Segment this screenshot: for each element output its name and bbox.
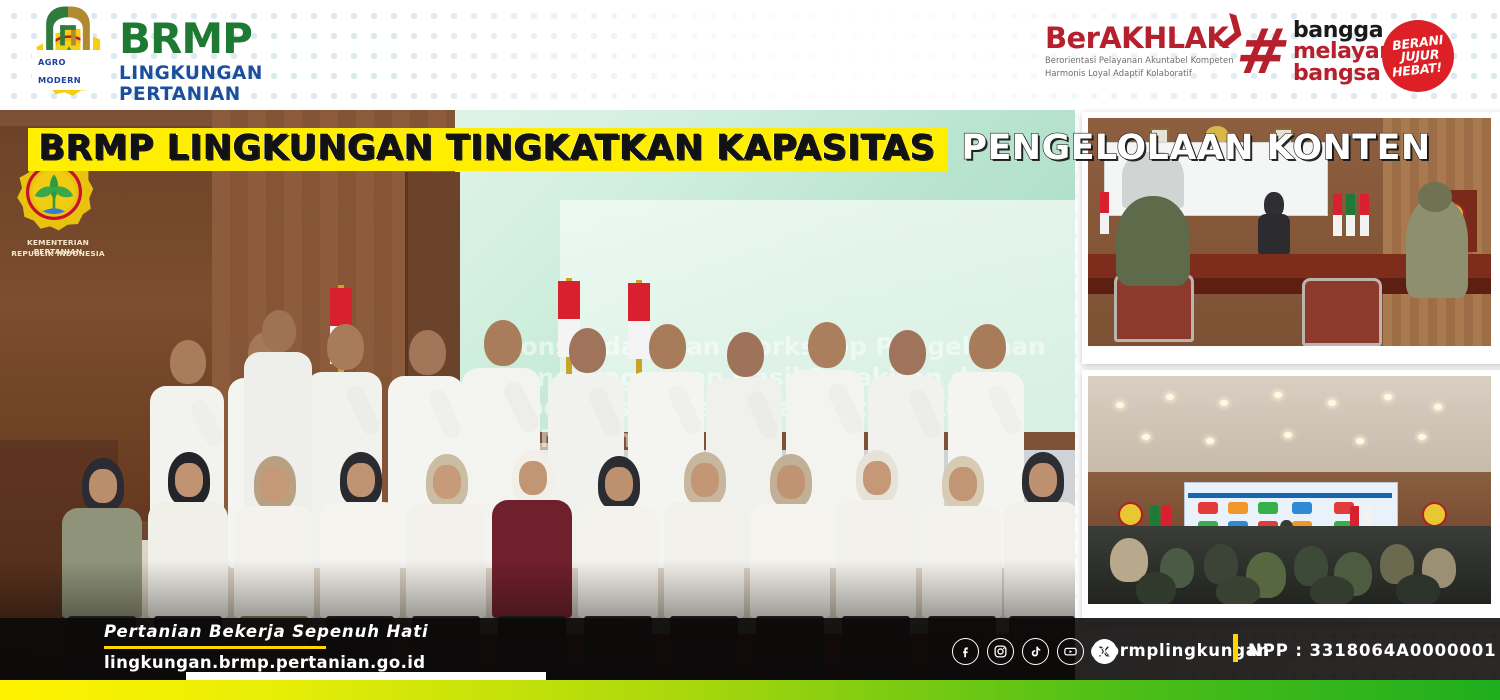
berakhlak-logo: BerAKHLAK ❯ Berorientasi Pelayanan Akunt… — [1045, 24, 1225, 79]
banner-header: BRMP LINGKUNGAN PERTANIAN BerAKHLAK ❯ Be… — [0, 0, 1500, 110]
facebook-icon[interactable] — [952, 638, 979, 665]
headline-block: BRMP LINGKUNGAN TINGKATKAN KAPASITAS PEN… — [28, 122, 1441, 171]
banner-stage: BRMP LINGKUNGAN PERTANIAN BerAKHLAK ❯ Be… — [0, 0, 1500, 700]
inset-photo-frame — [1088, 376, 1491, 604]
bangga-melayani-bangsa-logo: # bangga melayani bangsa — [1237, 20, 1402, 84]
youtube-icon[interactable] — [1057, 638, 1084, 665]
audience-head — [1396, 574, 1440, 604]
headline-line-2: PENGELOLAAN KONTEN — [961, 128, 1430, 168]
audience-head — [1216, 576, 1260, 604]
footer-tagline: Pertanian Bekerja Sepenuh Hati — [104, 622, 429, 641]
podium-caption-line-2: REPUBLIK INDONESIA — [6, 249, 110, 258]
hashtag-icon: # — [1233, 26, 1293, 79]
podium-seal-icon — [1422, 502, 1447, 527]
tiktok-icon[interactable] — [1022, 638, 1049, 665]
flag — [1333, 194, 1342, 236]
footer-url[interactable]: lingkungan.brmp.pertanian.go.id — [104, 653, 429, 672]
headline-line-2-wrap: PENGELOLAAN KONTEN — [951, 131, 1440, 166]
headline-line-1-highlight: BRMP LINGKUNGAN TINGKATKAN KAPASITAS — [28, 128, 947, 171]
social-handle: @brmplingkungan — [1090, 641, 1270, 660]
footer-divider — [1233, 634, 1238, 662]
berakhlak-title: BerAKHLAK ❯ — [1045, 24, 1225, 53]
flag — [1100, 192, 1109, 234]
inset-photo-auditorium — [1082, 370, 1500, 622]
brand-name: BRMP — [119, 18, 263, 60]
berakhlak-values-line-1: Berorientasi Pelayanan Akuntabel Kompete… — [1045, 55, 1225, 66]
instagram-icon[interactable] — [987, 638, 1014, 665]
headline-line-1: BRMP LINGKUNGAN TINGKATKAN KAPASITAS — [38, 128, 935, 168]
berakhlak-title-text: BerAKHLAK — [1045, 21, 1228, 55]
agro-modern-badge: AGRO MODERN — [32, 50, 108, 90]
npp-number: NPP : 3318064A0000001 — [1248, 641, 1496, 660]
agro-modern-logo: AGRO MODERN — [28, 0, 108, 72]
audience-head — [1136, 572, 1176, 604]
presenter-body — [1258, 214, 1290, 258]
berani-line-3: HEBAT! — [1391, 60, 1442, 78]
berakhlak-values-line-2: Harmonis Loyal Adaptif Kolaboratif — [1045, 68, 1225, 79]
podium-seal-icon — [1118, 502, 1143, 527]
slide-header-bar — [1188, 493, 1392, 498]
flag — [1360, 194, 1369, 236]
brand-subline-2: PERTANIAN — [119, 86, 263, 105]
hero-scene: ••• Konsolidasi dan Workshop Pengelolaan… — [0, 110, 1075, 680]
flag — [1346, 194, 1355, 236]
brand-subline-1: LINGKUNGAN — [119, 65, 263, 84]
bottom-color-strip — [0, 680, 1500, 700]
footer-text-block: Pertanian Bekerja Sepenuh Hati lingkunga… — [104, 622, 429, 672]
hero-group-photo: ••• Konsolidasi dan Workshop Pengelolaan… — [0, 110, 1075, 680]
agro-modern-label: AGRO MODERN — [38, 57, 81, 85]
attendee-hijab — [1116, 196, 1190, 286]
berani-jujur-hebat-badge: BERANI JUJUR HEBAT! — [1382, 20, 1454, 92]
audience-head — [1310, 576, 1354, 604]
attendee-uniform — [1406, 198, 1468, 298]
attendee-head — [1418, 182, 1452, 212]
footer-rule — [104, 646, 326, 649]
brand-wordmark: BRMP LINGKUNGAN PERTANIAN — [119, 18, 263, 104]
chair — [1302, 278, 1382, 346]
auditorium-ceiling — [1088, 376, 1491, 472]
